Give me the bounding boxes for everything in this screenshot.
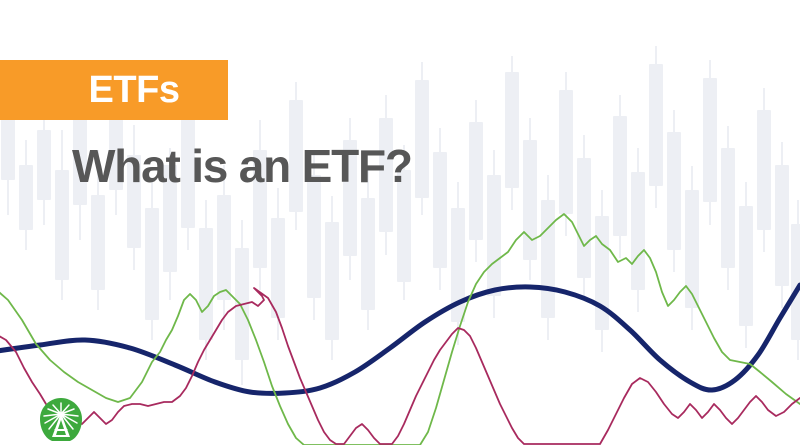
etf-hero-banner: ETFs What is an ETF? (0, 0, 800, 445)
category-badge-label: ETFs (89, 71, 180, 109)
fidelity-pyramid-logo (37, 396, 85, 444)
category-badge: ETFs (0, 60, 228, 120)
page-title: What is an ETF? (72, 142, 412, 190)
